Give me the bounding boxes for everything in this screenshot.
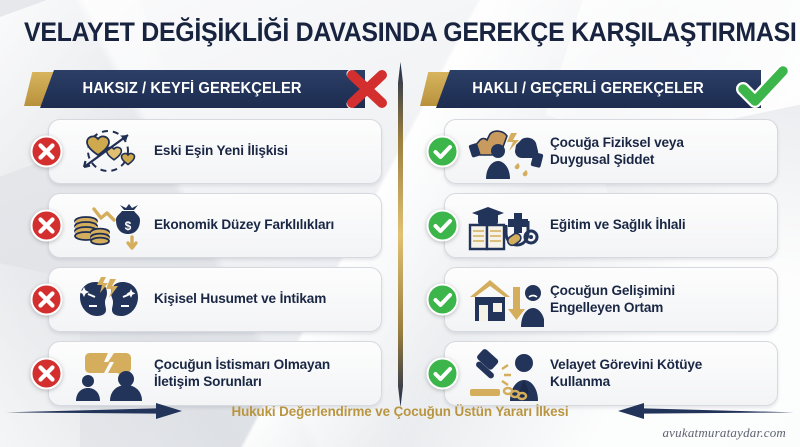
reason-label: Eğitim ve Sağlık İhlali xyxy=(550,193,746,258)
green-check-circle-icon xyxy=(426,209,459,242)
list-item[interactable]: Eğitim ve Sağlık İhlali xyxy=(418,193,778,258)
footer-principle-bar: Hukuki Değerlendirme ve Çocuğun Üstün Ya… xyxy=(0,398,800,424)
column-header-label: HAKSIZ / KEYFİ GEREKÇELER xyxy=(48,70,357,108)
list-item[interactable]: Velayet Görevini Kötüye Kullanma xyxy=(418,341,778,406)
infographic-canvas: VELAYET DEĞİŞİKLİĞİ DAVASINDA GEREKÇE KA… xyxy=(0,0,800,447)
column-valid-reasons: HAKLI / GEÇERLİ GEREKÇELER xyxy=(418,70,778,415)
reason-label: Ekonomik Düzey Farklılıkları xyxy=(154,193,350,258)
list-item[interactable]: $ Ekonomik Düzey Farklılıkları xyxy=(22,193,382,258)
red-x-circle-icon xyxy=(30,357,63,390)
column-header-banner-right: HAKLI / GEÇERLİ GEREKÇELER xyxy=(436,70,761,108)
page-title: VELAYET DEĞİŞİKLİĞİ DAVASINDA GEREKÇE KA… xyxy=(24,17,776,48)
list-item[interactable]: Çocuğun Gelişimini Engelleyen Ortam xyxy=(418,267,778,332)
arrow-left-icon xyxy=(604,401,794,421)
red-x-icon xyxy=(335,63,399,115)
list-item[interactable]: Kişisel Husumet ve İntikam xyxy=(22,267,382,332)
column-header-label: HAKLI / GEÇERLİ GEREKÇELER xyxy=(444,70,753,108)
broken-speech-bubble-icon xyxy=(70,347,148,401)
two-angry-heads-icon xyxy=(70,273,148,327)
red-x-circle-icon xyxy=(30,283,63,316)
column-invalid-reasons: HAKSIZ / KEYFİ GEREKÇELER xyxy=(22,70,382,415)
hearts-arrow-icon xyxy=(70,125,148,179)
reason-label: Kişisel Husumet ve İntikam xyxy=(154,267,350,332)
reason-list-left: Eski Eşin Yeni İlişkisi xyxy=(22,119,382,406)
reason-label: Çocuğa Fiziksel veya Duygusal Şiddet xyxy=(550,119,746,184)
list-item[interactable]: Eski Eşin Yeni İlişkisi xyxy=(22,119,382,184)
reason-list-right: Çocuğa Fiziksel veya Duygusal Şiddet xyxy=(418,119,778,406)
green-check-icon xyxy=(731,63,795,115)
reason-label: Velayet Görevini Kötüye Kullanma xyxy=(550,341,746,406)
red-x-circle-icon xyxy=(30,209,63,242)
green-check-circle-icon xyxy=(426,283,459,316)
reason-label: Çocuğun İstismarı Olmayan İletişim Sorun… xyxy=(154,341,350,406)
hand-fist-child-icon xyxy=(466,125,544,179)
reason-label: Eski Eşin Yeni İlişkisi xyxy=(154,119,350,184)
gavel-chain-person-icon xyxy=(466,347,544,401)
coins-money-bag-icon: $ xyxy=(70,199,148,253)
green-check-circle-icon xyxy=(426,135,459,168)
red-x-circle-icon xyxy=(30,135,63,168)
svg-text:$: $ xyxy=(125,219,132,233)
book-stethoscope-icon xyxy=(466,199,544,253)
list-item[interactable]: Çocuğa Fiziksel veya Duygusal Şiddet xyxy=(418,119,778,184)
reason-label: Çocuğun Gelişimini Engelleyen Ortam xyxy=(550,267,746,332)
watermark: avukatmurataydar.com xyxy=(662,425,786,441)
column-header-banner-left: HAKSIZ / KEYFİ GEREKÇELER xyxy=(40,70,365,108)
green-check-circle-icon xyxy=(426,357,459,390)
house-down-arrow-child-icon xyxy=(466,273,544,327)
list-item[interactable]: Çocuğun İstismarı Olmayan İletişim Sorun… xyxy=(22,341,382,406)
